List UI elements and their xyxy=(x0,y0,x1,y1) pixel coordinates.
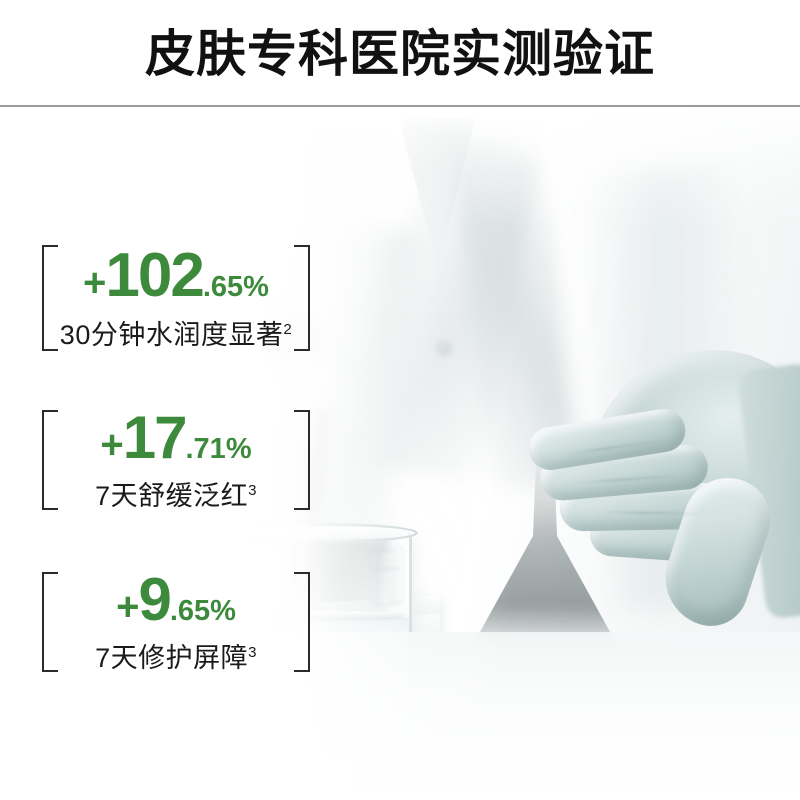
stat-plus-sign: + xyxy=(100,425,122,465)
stat-block-redness: + 17 .71% 7天舒缓泛红3 xyxy=(42,410,310,510)
stat-block-hydration: + 102 .65% 30分钟水润度显著2 xyxy=(42,245,310,351)
stat-footnote-marker: 3 xyxy=(248,644,257,661)
stat-plus-sign: + xyxy=(116,587,138,627)
stat-label: 30分钟水润度显著2 xyxy=(60,313,292,352)
promo-poster: 皮肤专科医院实测验证 + 102 .65% 30分钟水润度显著2 + 17 .7… xyxy=(0,0,800,800)
bracket-left xyxy=(42,410,58,510)
bracket-left xyxy=(42,245,58,351)
stat-block-barrier: + 9 .65% 7天修护屏障3 xyxy=(42,572,310,672)
stat-plus-sign: + xyxy=(83,263,105,303)
stat-footnote-marker: 3 xyxy=(248,482,257,499)
stat-label: 7天修护屏障3 xyxy=(95,636,257,675)
stat-label-text: 7天修护屏障 xyxy=(95,643,248,673)
stat-value: + 102 .65% xyxy=(83,245,269,307)
stat-label-text: 7天舒缓泛红 xyxy=(95,481,248,511)
stat-integer: 102 xyxy=(105,245,202,307)
stat-footnote-marker: 2 xyxy=(283,321,292,338)
bracket-right xyxy=(294,245,310,351)
stat-integer: 17 xyxy=(123,408,186,468)
header-divider xyxy=(0,105,800,107)
bracket-left xyxy=(42,572,58,672)
stat-value: + 17 .71% xyxy=(100,408,251,468)
photo-top-fade xyxy=(0,108,800,228)
page-title: 皮肤专科医院实测验证 xyxy=(0,24,800,84)
bracket-right xyxy=(294,410,310,510)
stat-integer: 9 xyxy=(138,570,169,630)
bracket-right xyxy=(294,572,310,672)
stat-value: + 9 .65% xyxy=(116,570,236,630)
stat-fraction: .71% xyxy=(186,435,252,464)
stat-label-text: 30分钟水润度显著 xyxy=(60,320,284,350)
stat-label: 7天舒缓泛红3 xyxy=(95,474,257,513)
photo-bottom-fade xyxy=(0,710,800,800)
stat-fraction: .65% xyxy=(203,273,269,302)
stat-fraction: .65% xyxy=(170,597,236,626)
